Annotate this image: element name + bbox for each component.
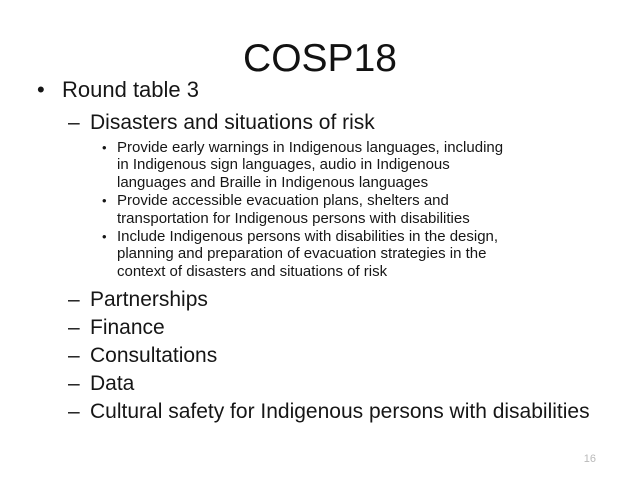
outline-item-text: Finance	[90, 314, 600, 342]
outline-item-level3: • Provide accessible evacuation plans, s…	[0, 192, 640, 227]
bullet-dot-small-icon: •	[102, 192, 116, 209]
outline-item-text: Provide early warnings in Indigenous lan…	[117, 139, 510, 191]
outline-item-level2: – Disasters and situations of risk	[0, 109, 640, 137]
outline-item-text: Partnerships	[90, 286, 600, 314]
outline-item-text: Cultural safety for Indigenous persons w…	[90, 398, 600, 426]
outline-item-level2: – Consultations	[0, 342, 640, 370]
outline-item-level2: – Finance	[0, 314, 640, 342]
outline-item-level3: • Include Indigenous persons with disabi…	[0, 228, 640, 280]
bullet-dot-small-icon: •	[102, 228, 116, 245]
bullet-dot-icon: •	[37, 76, 55, 104]
bullet-dash-icon: –	[68, 370, 90, 398]
outline-item-level3: • Provide early warnings in Indigenous l…	[0, 139, 640, 191]
bullet-dash-icon: –	[68, 314, 90, 342]
bullet-dash-icon: –	[68, 398, 90, 426]
slide-title: COSP18	[0, 38, 640, 80]
outline-item-text: Disasters and situations of risk	[90, 109, 600, 137]
outline-item-level2: – Data	[0, 370, 640, 398]
bullet-dash-icon: –	[68, 286, 90, 314]
outline-item-text: Data	[90, 370, 600, 398]
outline-item-level1: • Round table 3	[0, 76, 640, 104]
bullet-dot-small-icon: •	[102, 139, 116, 156]
outline-item-level2: – Cultural safety for Indigenous persons…	[0, 398, 640, 426]
outline-item-level2: – Partnerships	[0, 286, 640, 314]
outline-item-text: Consultations	[90, 342, 600, 370]
bullet-dash-icon: –	[68, 109, 90, 137]
outline-item-text: Provide accessible evacuation plans, she…	[117, 192, 510, 227]
bullet-dash-icon: –	[68, 342, 90, 370]
outline-item-text: Include Indigenous persons with disabili…	[117, 228, 510, 280]
slide-number: 16	[584, 453, 596, 466]
presentation-slide: COSP18 • Round table 3 – Disasters and s…	[0, 0, 640, 480]
outline-item-text: Round table 3	[62, 76, 600, 104]
outline-sublist-level3: • Provide early warnings in Indigenous l…	[0, 139, 640, 280]
slide-body-outline: • Round table 3 – Disasters and situatio…	[0, 76, 640, 426]
